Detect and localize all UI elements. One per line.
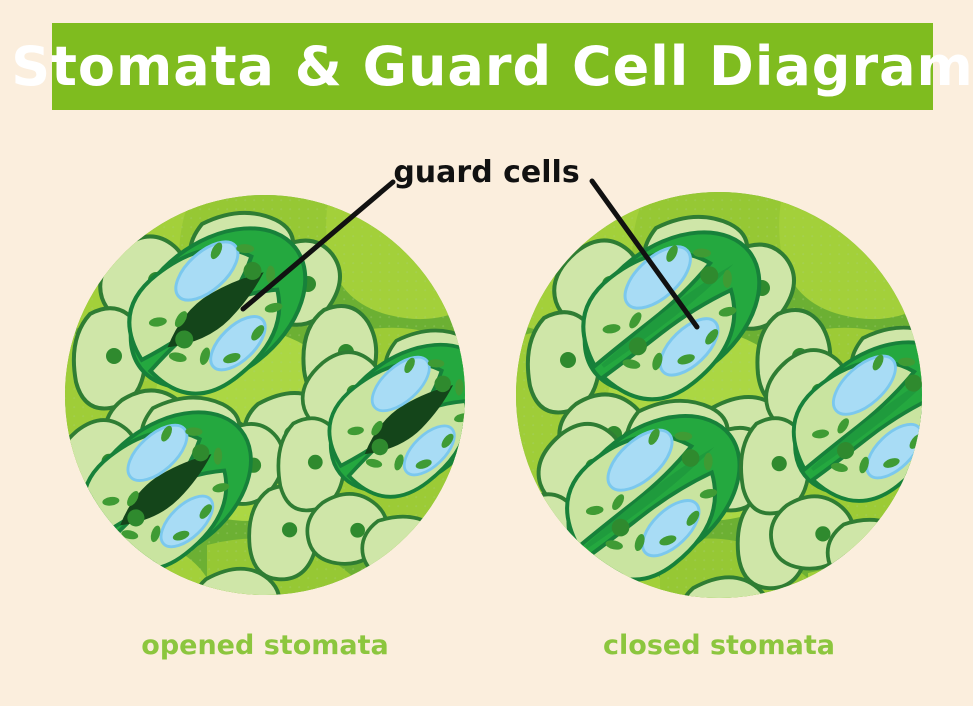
stoma-upper-left-open xyxy=(74,196,376,484)
page-title: Stomata & Guard Cell Diagram xyxy=(11,35,973,98)
panel-opened-stomata xyxy=(31,175,556,655)
leader-lines xyxy=(243,181,697,327)
leaf-tissue-background-right xyxy=(498,175,938,629)
leaf-tissue-background-left xyxy=(45,175,485,629)
diagram-stage: Stomata & Guard Cell Diagram xyxy=(0,0,973,706)
panel-closed-stomata xyxy=(498,175,973,667)
stoma-lower-left-closed xyxy=(513,384,809,667)
guard-cells-label: guard cells xyxy=(0,155,973,190)
stoma-right-edge-open xyxy=(278,315,556,580)
left-leader-line xyxy=(243,182,393,309)
stoma-right-edge-closed xyxy=(741,311,973,585)
caption-closed-stomata: closed stomata xyxy=(516,630,922,661)
right-leader-line xyxy=(592,181,697,327)
caption-opened-stomata: opened stomata xyxy=(65,630,465,661)
stoma-upper-left-closed xyxy=(528,200,830,488)
stoma-lower-left-open xyxy=(31,381,318,655)
title-banner: Stomata & Guard Cell Diagram xyxy=(52,23,933,110)
